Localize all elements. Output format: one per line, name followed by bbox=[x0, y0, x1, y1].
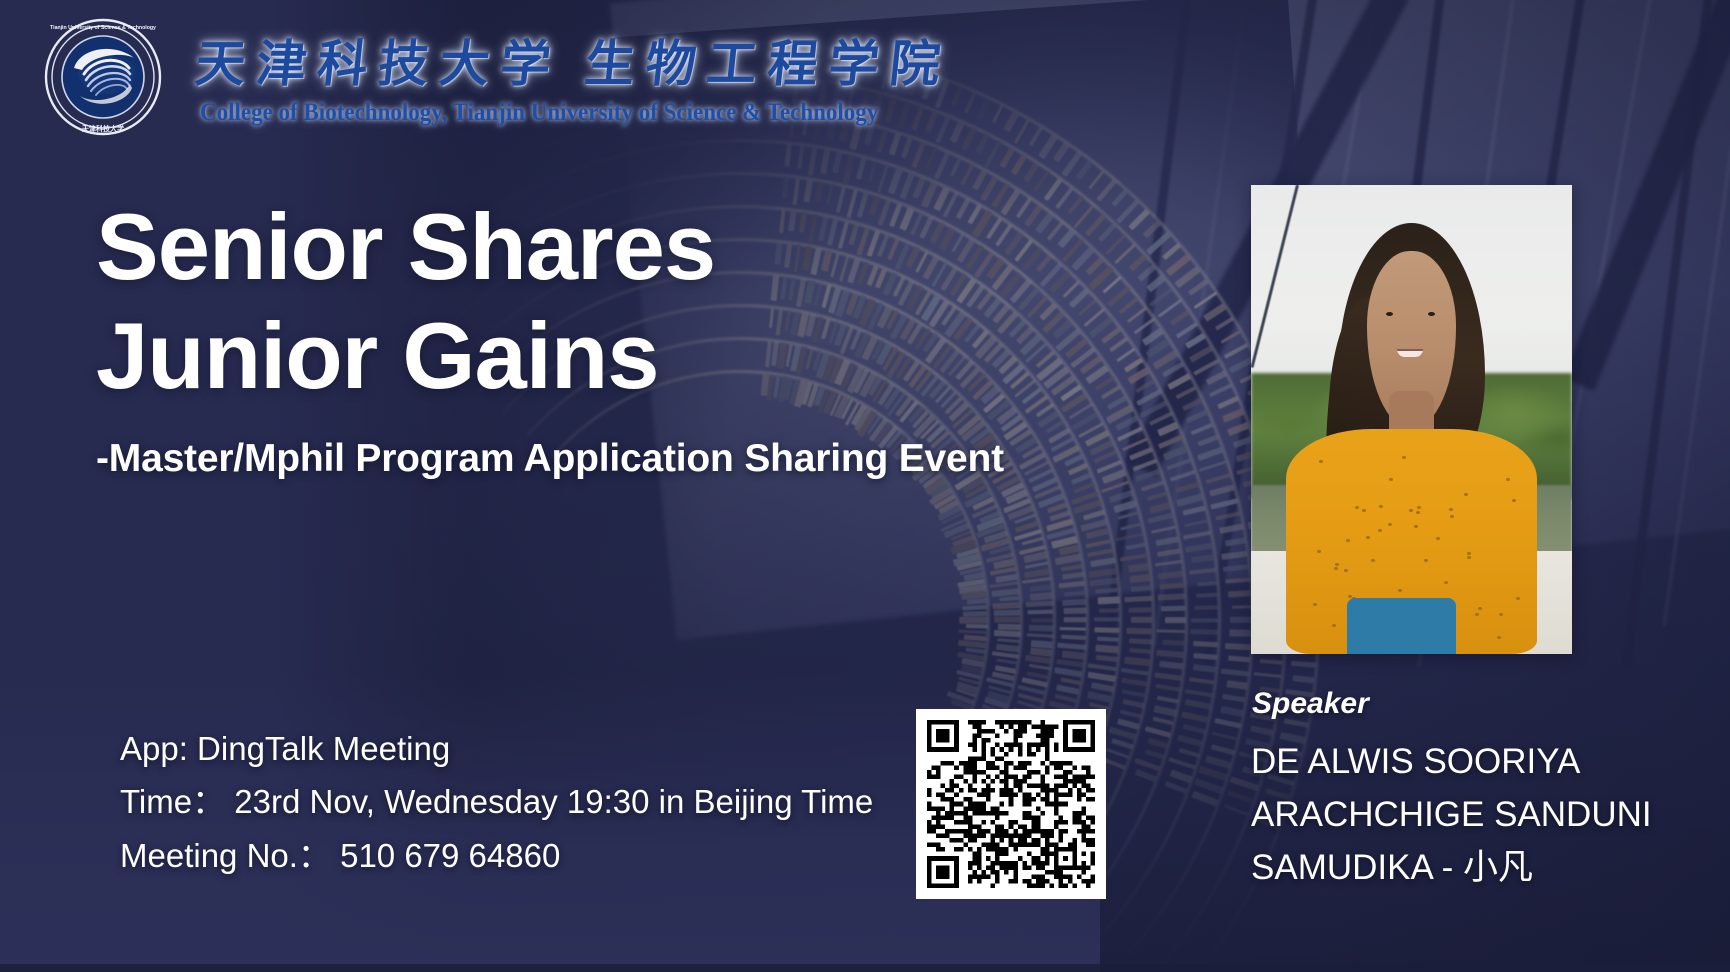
meeting-app-line: App: DingTalk Meeting bbox=[120, 722, 873, 775]
speaker-name-line1: DE ALWIS SOORIYA bbox=[1251, 735, 1721, 788]
page-title-line1: Senior Shares bbox=[96, 194, 715, 299]
university-english-title: College of Biotechnology, Tianjin Univer… bbox=[200, 99, 878, 127]
svg-text:Tianjin University of Science: Tianjin University of Science & Technolo… bbox=[50, 25, 156, 31]
svg-text:天津科技大学: 天津科技大学 bbox=[82, 124, 124, 133]
university-chinese-title: 天津科技大学 生物工程学院 bbox=[192, 24, 955, 96]
speaker-portrait-photo bbox=[1251, 185, 1572, 654]
speaker-name-line3: SAMUDIKA - 小凡 bbox=[1251, 841, 1721, 894]
university-seal-icon: Tianjin University of Science & Technolo… bbox=[44, 18, 162, 136]
speaker-label: Speaker bbox=[1252, 687, 1369, 721]
speaker-name: DE ALWIS SOORIYA ARACHCHIGE SANDUNI SAMU… bbox=[1251, 735, 1721, 895]
meeting-number-line: Meeting No.： 510 679 64860 bbox=[120, 829, 873, 882]
poster-canvas: Tianjin University of Science & Technolo… bbox=[0, 0, 1730, 972]
page-title: Senior Shares Junior Gains bbox=[96, 192, 715, 410]
qr-code-icon[interactable] bbox=[916, 709, 1106, 899]
meeting-info-block: App: DingTalk Meeting Time： 23rd Nov, We… bbox=[120, 722, 873, 882]
page-title-line2: Junior Gains bbox=[96, 301, 715, 410]
header: Tianjin University of Science & Technolo… bbox=[0, 0, 1730, 160]
meeting-time-line: Time： 23rd Nov, Wednesday 19:30 in Beiji… bbox=[120, 775, 873, 828]
background-bottom-edge bbox=[0, 964, 1730, 972]
speaker-name-line2: ARACHCHIGE SANDUNI bbox=[1251, 788, 1721, 841]
page-subtitle: -Master/Mphil Program Application Sharin… bbox=[96, 437, 1004, 481]
